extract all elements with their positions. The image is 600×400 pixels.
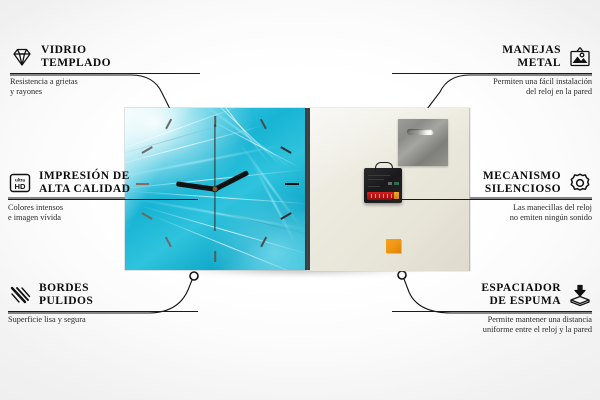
callout-title-mecanismo: MECANISMO SILENCIOSO bbox=[483, 170, 561, 195]
callout-bordes-pulidos[interactable]: BORDES PULIDOS Superficie lisa y segura bbox=[8, 282, 198, 325]
callout-sub-bordes-pulidos: Superficie lisa y segura bbox=[8, 315, 198, 325]
diamond-icon bbox=[10, 46, 34, 68]
callout-rule bbox=[8, 199, 198, 200]
hanger-slot bbox=[407, 129, 434, 135]
callout-rule bbox=[392, 199, 592, 200]
picture-hanger-icon bbox=[568, 46, 592, 68]
callout-mecanismo-silencioso[interactable]: MECANISMO SILENCIOSO Las manecillas del … bbox=[392, 170, 592, 223]
callout-sub-vidrio-templado: Resistencia a grietas y rayones bbox=[10, 77, 200, 97]
callout-title-impresion: IMPRESIÓN DE ALTA CALIDAD bbox=[39, 170, 130, 195]
callout-sub-mecanismo: Las manecillas del reloj no emiten ningú… bbox=[392, 203, 592, 223]
callout-vidrio-templado[interactable]: VIDRIO TEMPLADO Resistencia a grietas y … bbox=[10, 44, 200, 97]
metal-hanger-plate bbox=[398, 119, 448, 166]
callout-sub-manejas-metal: Permiten una fácil instalación del reloj… bbox=[392, 77, 592, 97]
callout-rule bbox=[8, 311, 198, 312]
gear-icon bbox=[568, 172, 592, 194]
mechanism-hook bbox=[375, 162, 393, 172]
callout-impresion-alta-calidad[interactable]: ultra HD IMPRESIÓN DE ALTA CALIDAD Color… bbox=[8, 170, 198, 223]
callout-rule bbox=[392, 311, 592, 312]
ultra-hd-icon: ultra HD bbox=[8, 172, 32, 194]
infographic-stage: VIDRIO TEMPLADO Resistencia a grietas y … bbox=[0, 0, 600, 400]
svg-text:HD: HD bbox=[15, 182, 26, 191]
callout-espaciador-espuma[interactable]: ESPACIADOR DE ESPUMA Permite mantener un… bbox=[392, 282, 592, 335]
second-hand bbox=[214, 124, 215, 231]
foam-spacer-icon bbox=[568, 284, 592, 306]
callout-title-manejas-metal: MANEJAS METAL bbox=[502, 44, 561, 69]
callout-sub-espaciador: Permite mantener una distancia uniforme … bbox=[392, 315, 592, 335]
callout-rule bbox=[392, 73, 592, 74]
callout-title-bordes-pulidos: BORDES PULIDOS bbox=[39, 282, 93, 307]
polished-edges-icon bbox=[8, 284, 32, 306]
hand-pivot bbox=[213, 187, 218, 192]
callout-sub-impresion: Colores intensos e imagen vívida bbox=[8, 203, 198, 223]
callout-title-espaciador: ESPACIADOR DE ESPUMA bbox=[481, 282, 561, 307]
foam-spacer bbox=[386, 239, 401, 253]
callout-title-vidrio-templado: VIDRIO TEMPLADO bbox=[41, 44, 111, 69]
callout-rule bbox=[10, 73, 200, 74]
callout-manejas-metal[interactable]: MANEJAS METAL Permiten una fácil instala… bbox=[392, 44, 592, 97]
